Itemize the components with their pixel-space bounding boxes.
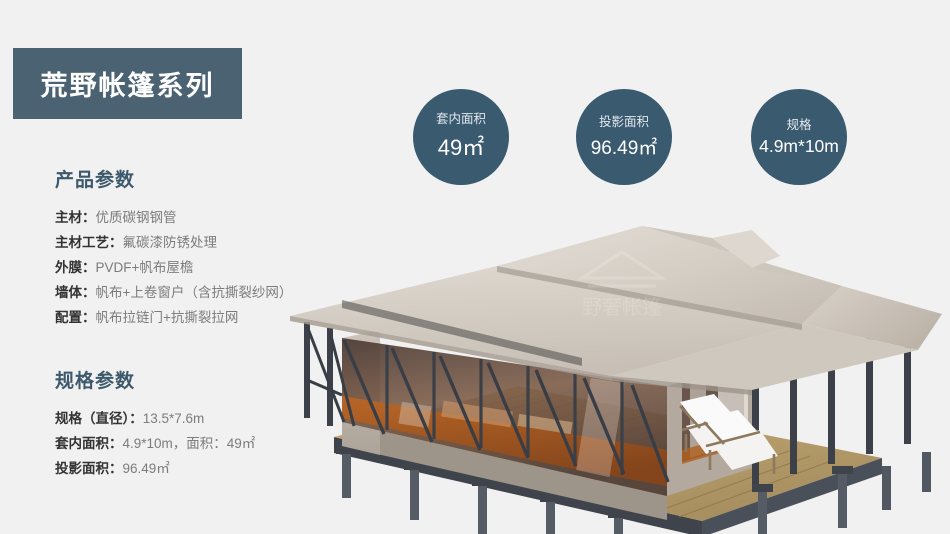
stat-badge-value: 96.49㎡ bbox=[591, 133, 658, 160]
spec-label: 投影面积： bbox=[55, 461, 123, 476]
outer-stilts bbox=[882, 452, 931, 510]
param-value: 帆布+上卷窗户（含抗撕裂纱网） bbox=[96, 285, 293, 300]
param-label: 主材工艺： bbox=[55, 235, 123, 250]
param-value: 氟碳漆防锈处理 bbox=[123, 235, 218, 250]
title-banner: 荒野帐篷系列 bbox=[13, 48, 242, 119]
param-value: 优质碳钢钢管 bbox=[96, 210, 177, 225]
param-value: PVDF+帆布屋檐 bbox=[96, 260, 194, 275]
product-params-heading: 产品参数 bbox=[55, 165, 355, 192]
stat-badge-interior-area: 套内面积 49㎡ bbox=[413, 89, 509, 185]
stat-badge-value: 49㎡ bbox=[438, 130, 484, 162]
tent-cabin-illustration: 野奢帐篷 bbox=[282, 190, 950, 534]
spec-label: 规格（直径）： bbox=[55, 411, 143, 426]
stat-badge-projected-area: 投影面积 96.49㎡ bbox=[576, 89, 672, 185]
stat-badge-value: 4.9m*10m bbox=[759, 136, 839, 157]
spec-value: 13.5*7.6m bbox=[143, 411, 205, 426]
spec-value: 4.9*10m，面积：49㎡ bbox=[123, 436, 256, 451]
spec-label: 套内面积： bbox=[55, 436, 123, 451]
stat-badge-specification: 规格 4.9m*10m bbox=[751, 89, 847, 185]
svg-text:野奢帐篷: 野奢帐篷 bbox=[582, 296, 662, 319]
param-label: 外膜： bbox=[55, 260, 96, 275]
param-label: 配置： bbox=[55, 310, 96, 325]
stat-badge-caption: 投影面积 bbox=[599, 115, 649, 130]
stat-badge-caption: 套内面积 bbox=[436, 112, 486, 127]
param-label: 墙体： bbox=[55, 285, 96, 300]
param-label: 主材： bbox=[55, 210, 96, 225]
param-value: 帆布拉链门+抗撕裂拉网 bbox=[96, 310, 239, 325]
page-title: 荒野帐篷系列 bbox=[41, 64, 215, 103]
slide-root: 荒野帐篷系列 套内面积 49㎡ 投影面积 96.49㎡ 规格 4.9m*10m … bbox=[0, 0, 950, 534]
spec-value: 96.49㎡ bbox=[123, 461, 170, 476]
stat-badge-caption: 规格 bbox=[786, 118, 811, 133]
product-render-image: 野奢帐篷 bbox=[282, 190, 950, 534]
